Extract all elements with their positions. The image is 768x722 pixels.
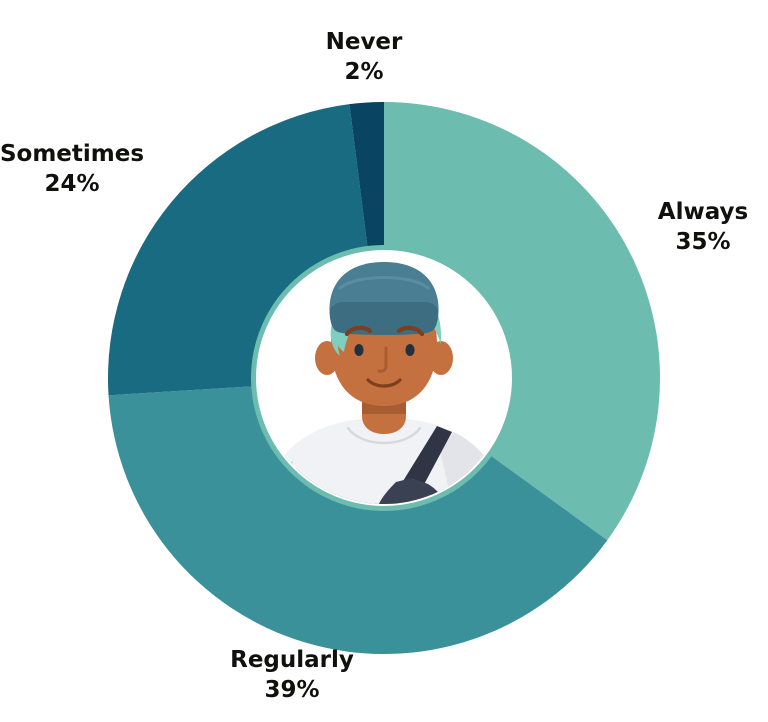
label-never-value: 2% <box>344 59 383 85</box>
label-always-name: Always <box>658 199 748 225</box>
label-always-value: 35% <box>675 229 730 255</box>
label-sometimes-name: Sometimes <box>0 141 144 167</box>
avatar-eye-left <box>354 344 363 356</box>
donut-chart-figure: Never 2% Always 35% Regularly 39% Someti… <box>0 0 768 722</box>
label-sometimes-value: 24% <box>44 171 99 197</box>
label-regularly-value: 39% <box>264 677 319 703</box>
label-never-name: Never <box>326 29 403 55</box>
donut-chart-svg: Never 2% Always 35% Regularly 39% Someti… <box>0 0 768 722</box>
avatar-eye-right <box>405 344 414 356</box>
avatar-beanie-band <box>330 302 438 335</box>
label-regularly-name: Regularly <box>230 647 354 673</box>
